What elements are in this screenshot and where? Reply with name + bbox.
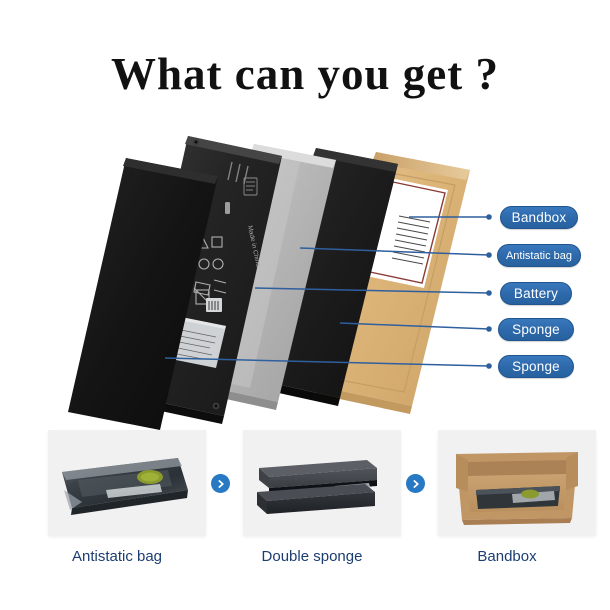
- chevron-right-icon: [411, 479, 421, 489]
- panel-antistatic-bag[interactable]: [48, 430, 206, 535]
- callout-chip-antistatic-bag[interactable]: Antistatic bag: [497, 244, 581, 267]
- chevron-right-icon: [216, 479, 226, 489]
- panel-bandbox[interactable]: [438, 430, 596, 535]
- callout-leader-dots: [486, 214, 492, 369]
- step-next-arrow-1[interactable]: [211, 474, 230, 493]
- callout-chip-sponge-front[interactable]: Sponge: [498, 355, 574, 378]
- step-next-arrow-2[interactable]: [406, 474, 425, 493]
- packaging-steps: Antistatic bag: [0, 430, 610, 610]
- callout-chip-sponge-back[interactable]: Sponge: [498, 318, 574, 341]
- panel-caption-double-sponge: Double sponge: [212, 548, 412, 565]
- callout-chip-bandbox[interactable]: Bandbox: [500, 206, 578, 229]
- callout-chip-label: Antistatic bag: [506, 250, 572, 262]
- callout-chip-label: Bandbox: [512, 210, 567, 225]
- page-title: What can you get ?: [0, 52, 610, 97]
- infographic-page: What can you get ?: [0, 0, 610, 610]
- panel-caption-bandbox: Bandbox: [407, 548, 607, 565]
- panel-double-sponge[interactable]: [243, 430, 401, 535]
- panel-caption-antistatic-bag: Antistatic bag: [17, 548, 217, 565]
- callout-chip-label: Battery: [514, 286, 558, 301]
- callout-chip-label: Sponge: [512, 322, 560, 337]
- callout-chip-label: Sponge: [512, 359, 560, 374]
- callout-chip-battery[interactable]: Battery: [500, 282, 572, 305]
- exploded-diagram: Made in China: [0, 130, 610, 430]
